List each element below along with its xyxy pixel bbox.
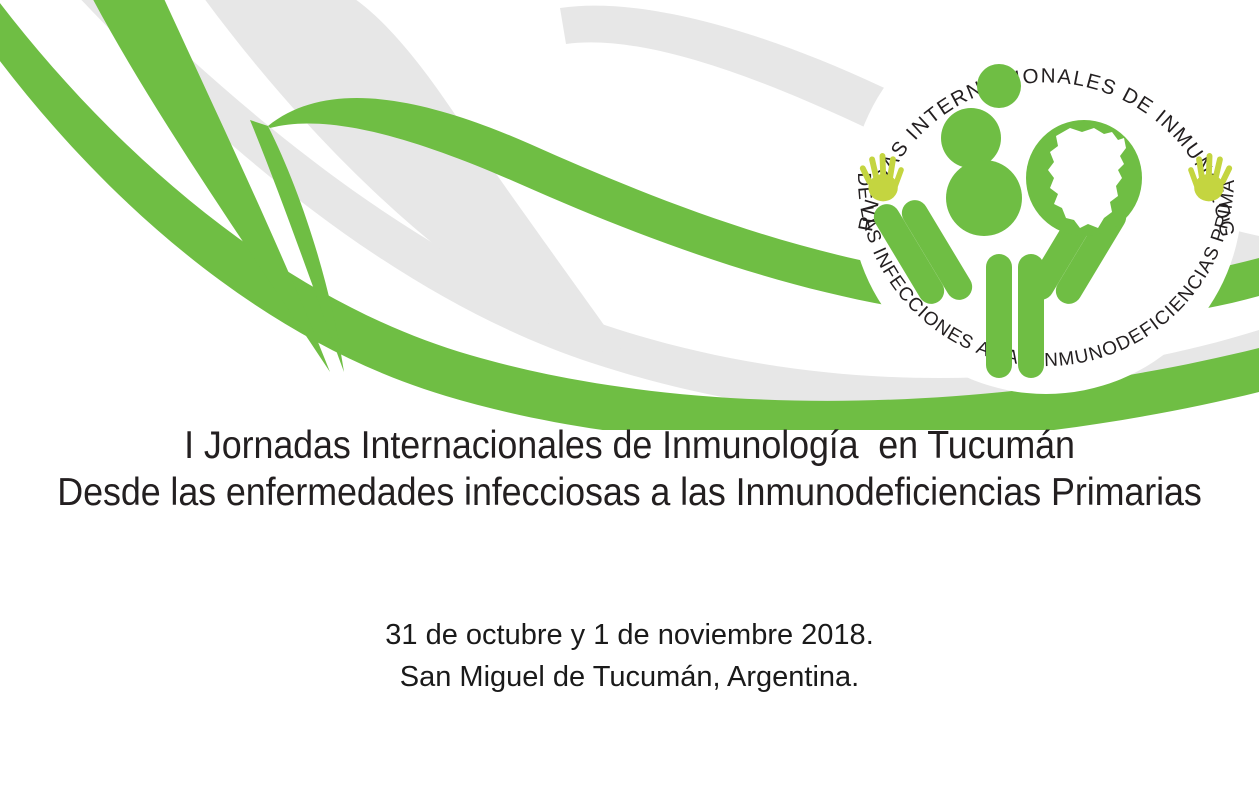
logo-dot-medium: [941, 108, 1001, 168]
event-logo: JORNADAS INTERNACIONALES DE INMUNOLOGIA …: [836, 2, 1256, 394]
green-ribbon-curl: [250, 120, 344, 372]
event-details: 31 de octubre y 1 de noviembre 2018. San…: [0, 614, 1259, 698]
gray-ribbon-hook: [198, 0, 630, 362]
event-dates: 31 de octubre y 1 de noviembre 2018.: [0, 614, 1259, 656]
title-line-1: I Jornadas Internacionales de Inmunologí…: [50, 422, 1208, 469]
tucuman-map-badge: [1026, 120, 1142, 236]
slide-title: I Jornadas Internacionales de Inmunologí…: [0, 422, 1259, 516]
presentation-slide: JORNADAS INTERNACIONALES DE INMUNOLOGIA …: [0, 0, 1259, 800]
logo-dot-large: [946, 160, 1022, 236]
green-ribbon-hook: [88, 0, 330, 372]
title-line-2: Desde las enfermedades infecciosas a las…: [50, 469, 1208, 516]
event-location: San Miguel de Tucumán, Argentina.: [0, 656, 1259, 698]
logo-dot-small: [977, 64, 1021, 108]
